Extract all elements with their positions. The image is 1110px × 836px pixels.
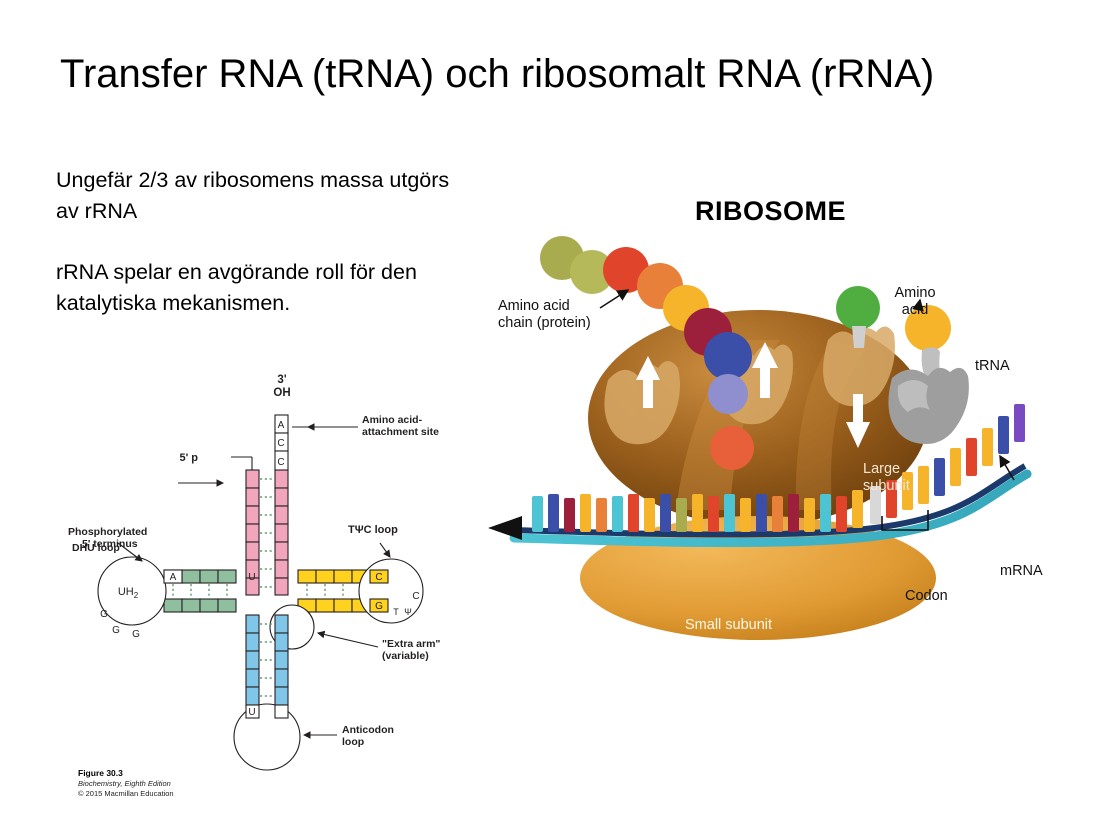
trna-attachment-label-1: Amino acid-	[362, 414, 423, 426]
ribosome-figure-title: RIBOSOME	[695, 196, 846, 227]
trna-cloverleaf-figure: 3' OH A C C Amino acid- attachment site …	[60, 365, 500, 815]
trna-tpsic-c-right: C	[412, 591, 419, 602]
label-mrna: mRNA	[1000, 563, 1043, 580]
trna-base-a: A	[278, 420, 285, 431]
trna-anticodon-u: U	[248, 707, 255, 718]
trna-dhu-loop-label: DHU loop	[72, 542, 120, 554]
trna-attachment-label-2: attachment site	[362, 426, 439, 438]
label-large-subunit-line2: subunit	[863, 478, 910, 494]
label-amino-acid: Amino acid	[880, 285, 950, 319]
trna-tpsic-loop-label: TΨC loop	[348, 524, 398, 536]
trna-3prime-label: 3'	[277, 374, 286, 386]
label-codon: Codon	[905, 588, 948, 605]
trna-base-c2: C	[277, 457, 284, 468]
body-paragraph-1: Ungefär 2/3 av ribosomens massa utgörs a…	[56, 165, 456, 227]
label-trna: tRNA	[975, 358, 1010, 375]
body-paragraph-2: rRNA spelar en avgörande roll för den ka…	[56, 257, 456, 319]
figure-caption-line1: Figure 30.3	[78, 768, 298, 779]
trna-5prime-p-label: 5' p	[179, 452, 198, 464]
trna-tpsic-c-top: C	[375, 572, 382, 583]
trna-base-c1: C	[277, 438, 284, 449]
trna-dhu-stem-base-a: A	[170, 572, 177, 583]
label-large-subunit: Large subunit	[863, 461, 943, 495]
trna-tpsic-g: G	[375, 601, 383, 612]
ribosome-figure: RIBOSOME	[480, 180, 1100, 680]
page-title: Transfer RNA (tRNA) och ribosomalt RNA (…	[60, 52, 1050, 97]
trna-phosphorylated-label-1: Phosphorylated	[68, 526, 147, 538]
label-amino-acid-line2: acid	[902, 302, 929, 318]
figure-caption-line3: © 2015 Macmillan Education	[78, 789, 298, 799]
trna-anticodon-label-2: loop	[342, 736, 364, 748]
trna-dhu-g2: G	[112, 625, 120, 636]
label-amino-acid-chain-line2: chain (protein)	[498, 315, 591, 331]
label-amino-acid-chain: Amino acid chain (protein)	[498, 298, 633, 332]
slide: Transfer RNA (tRNA) och ribosomalt RNA (…	[0, 0, 1110, 836]
trna-extra-arm-label-2: (variable)	[382, 650, 429, 662]
trna-tpsic-psi: Ψ	[404, 607, 412, 617]
trna-extra-arm-label-1: "Extra arm"	[382, 638, 440, 650]
trna-oh-label: OH	[273, 387, 290, 399]
trna-anticodon-label-1: Anticodon	[342, 724, 394, 736]
trna-u-junction: U	[248, 572, 255, 583]
label-small-subunit: Small subunit	[685, 617, 815, 634]
label-large-subunit-line1: Large	[863, 461, 900, 477]
figure-caption-line2: Biochemistry, Eighth Edition	[78, 779, 298, 789]
trna-dhu-g1: G	[100, 609, 108, 620]
trna-dhu-g3: G	[132, 629, 140, 640]
label-amino-acid-line1: Amino	[894, 285, 935, 301]
label-amino-acid-chain-line1: Amino acid	[498, 298, 570, 314]
figure-caption: Figure 30.3 Biochemistry, Eighth Edition…	[78, 768, 298, 799]
trna-tpsic-t: T	[393, 607, 399, 617]
